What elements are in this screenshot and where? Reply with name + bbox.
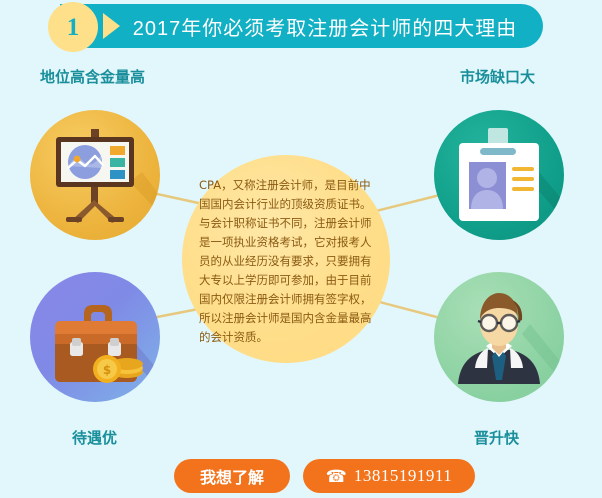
learn-more-label: 我想了解 bbox=[200, 464, 264, 488]
presentation-chart-icon bbox=[30, 110, 160, 240]
center-description: CPA，又称注册会计师，是目前中国国内会计行业的顶级资质证书。与会计职称证书不同… bbox=[199, 176, 375, 346]
node-top-right[interactable] bbox=[434, 110, 564, 240]
svg-text:$: $ bbox=[103, 363, 111, 377]
node-bottom-left[interactable]: $ bbox=[30, 272, 160, 402]
businessman-icon bbox=[434, 272, 564, 402]
briefcase-coins-icon: $ bbox=[30, 272, 160, 402]
learn-more-button[interactable]: 我想了解 bbox=[174, 459, 290, 493]
id-badge-icon bbox=[434, 110, 564, 240]
node-bottom-right[interactable] bbox=[434, 272, 564, 402]
node-top-left[interactable] bbox=[30, 110, 160, 240]
page-title: 2017年你必须考取注册会计师的四大理由 bbox=[120, 4, 530, 48]
phone-button[interactable]: ☎ 13815191911 bbox=[303, 459, 475, 493]
telephone-handset-icon: ☎ bbox=[326, 468, 347, 485]
infographic-stage: 1 2017年你必须考取注册会计师的四大理由 地位高含金量高 市场缺口大 待遇优… bbox=[0, 0, 602, 498]
step-badge-number: 1 bbox=[67, 15, 80, 40]
step-badge: 1 bbox=[48, 2, 98, 52]
phone-number-label: 13815191911 bbox=[354, 466, 452, 486]
header-arrow-icon bbox=[103, 13, 120, 39]
